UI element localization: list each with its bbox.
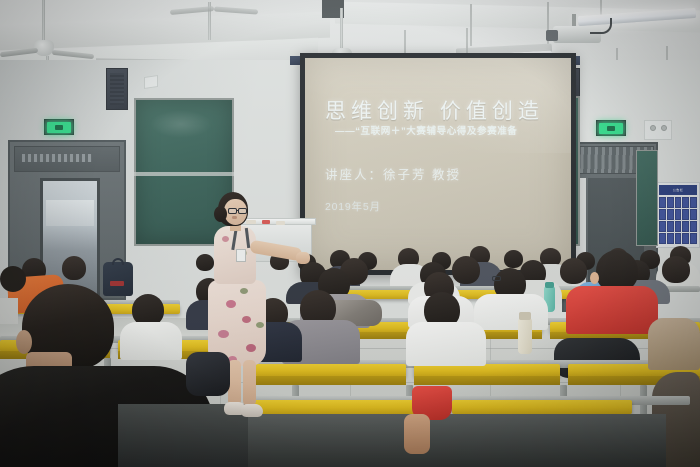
- notice-board-header: 公告栏: [659, 185, 697, 195]
- presenter-hand: [296, 252, 310, 264]
- desk-top: [452, 400, 632, 414]
- leg: [404, 414, 430, 454]
- window-building-view: [46, 200, 94, 226]
- notice-board: 公告栏: [656, 182, 700, 248]
- lecture-hall-photo: 公告栏 思维创新 价值创造 ——“互联网＋”大赛辅导心得及参赛准备 讲座人：徐子…: [0, 0, 700, 467]
- exit-sign-left-icon: [44, 119, 74, 135]
- presenter-leg: [243, 360, 256, 406]
- fan-rod: [340, 8, 343, 50]
- student-head: [196, 254, 214, 271]
- desk-front: [414, 376, 560, 385]
- projector-lens-icon: [546, 30, 558, 41]
- wall-fixture: [144, 75, 158, 89]
- presenter-mouth: [232, 216, 237, 219]
- wall-speaker: [106, 68, 128, 110]
- student-body: [648, 318, 700, 370]
- projection-screen-frame: 思维创新 价值创造 ——“互联网＋”大赛辅导心得及参赛准备 讲座人：徐子芳 教授…: [300, 53, 576, 275]
- backpack-navy: [103, 262, 133, 296]
- chalk-piece: [276, 221, 285, 225]
- fan-rod: [42, 0, 45, 42]
- notice-board-header-label: 公告栏: [673, 188, 683, 192]
- student-head: [0, 266, 26, 292]
- student-head: [504, 250, 523, 268]
- chalkboard-far-right: [636, 150, 658, 246]
- slide-subtitle: ——“互联网＋”大赛辅导心得及参赛准备: [321, 126, 555, 137]
- slide-presenter: 讲座人：徐子芳 教授: [321, 164, 555, 183]
- student-red-shirt: [566, 286, 658, 334]
- eyeglasses-icon: [238, 208, 247, 214]
- student-head: [560, 258, 587, 284]
- exit-sign-right-icon: [596, 120, 626, 136]
- room-label-plate: [22, 154, 92, 162]
- student-white-shirt: [406, 322, 486, 366]
- backpack-black: [186, 352, 230, 396]
- notice-board-grid: [659, 197, 697, 244]
- student-white-shirt: [120, 322, 182, 360]
- projection-screen: 思维创新 价值创造 ——“互联网＋”大赛辅导心得及参赛准备 讲座人：徐子芳 教授…: [305, 58, 571, 270]
- presenter-hair-bun: [214, 206, 227, 222]
- student-body: [0, 298, 18, 324]
- slide-title: 思维创新 价值创造: [321, 100, 555, 124]
- water-bottle-cream: [518, 318, 532, 354]
- eyeglasses-bridge: [236, 210, 239, 211]
- student-head: [452, 256, 480, 284]
- ear: [16, 330, 32, 354]
- student-head: [62, 256, 86, 280]
- ear: [590, 272, 599, 284]
- chalk-piece: [246, 220, 256, 224]
- backpack-handle: [112, 258, 124, 265]
- presentation-slide: 思维创新 价值创造 ——“互联网＋”大赛辅导心得及参赛准备 讲座人：徐子芳 教授…: [305, 58, 571, 270]
- backpack-logo: [110, 281, 124, 286]
- student-white-shirt: [474, 294, 548, 330]
- chalkboard-rail: [134, 172, 234, 176]
- bottle-cap: [519, 312, 531, 320]
- presenter-shoe: [241, 404, 263, 417]
- wall-control-panel[interactable]: [644, 120, 672, 140]
- id-badge: [236, 249, 246, 262]
- lamp-rod: [470, 4, 472, 46]
- student-head: [662, 256, 690, 283]
- desk-front: [256, 376, 406, 385]
- eyeglasses-icon: [492, 276, 501, 281]
- slide-date: 2019年5月: [321, 199, 555, 214]
- chalkboard-smudge: [150, 110, 212, 138]
- desk-under-shadow: [236, 414, 666, 467]
- bottle-cap: [545, 282, 554, 288]
- chalk-piece: [262, 220, 270, 224]
